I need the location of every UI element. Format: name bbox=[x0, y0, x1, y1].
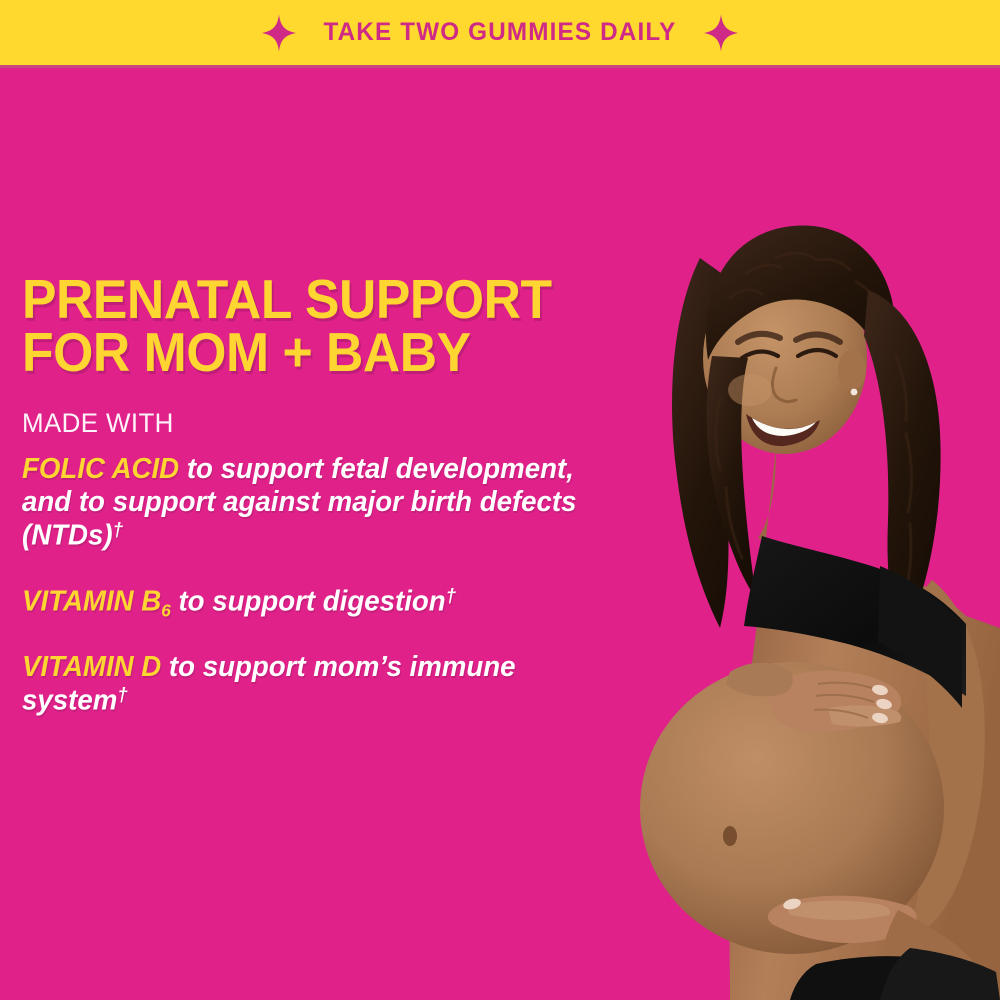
sparkle-icon bbox=[704, 14, 738, 52]
benefit-lead: VITAMIN B bbox=[22, 586, 161, 618]
benefit-item: VITAMIN B6 to support digestion† bbox=[22, 585, 604, 621]
footnote-marker: † bbox=[117, 684, 127, 706]
text-content: PRENATAL SUPPORT FOR MOM + BABY MADE WIT… bbox=[22, 68, 642, 1000]
benefit-item: FOLIC ACID to support fetal development,… bbox=[22, 453, 604, 553]
page-title: PRENATAL SUPPORT FOR MOM + BABY bbox=[22, 273, 552, 379]
banner-text: TAKE TWO GUMMIES DAILY bbox=[324, 18, 677, 47]
benefit-subscript: 6 bbox=[161, 600, 171, 620]
made-with-label: MADE WITH bbox=[22, 408, 174, 439]
top-banner: TAKE TWO GUMMIES DAILY bbox=[0, 0, 1000, 68]
footnote-marker: † bbox=[113, 519, 123, 541]
product-promo-page: TAKE TWO GUMMIES DAILY bbox=[0, 0, 1000, 1000]
pregnant-woman-photo bbox=[580, 68, 1000, 1000]
benefit-lead: FOLIC ACID bbox=[22, 453, 179, 485]
sparkle-icon bbox=[262, 14, 296, 52]
benefit-lead: VITAMIN D bbox=[22, 651, 161, 683]
benefit-body: to support digestion bbox=[171, 586, 446, 618]
benefit-item: VITAMIN D to support mom’s immune system… bbox=[22, 651, 604, 718]
footnote-marker: † bbox=[446, 585, 456, 607]
